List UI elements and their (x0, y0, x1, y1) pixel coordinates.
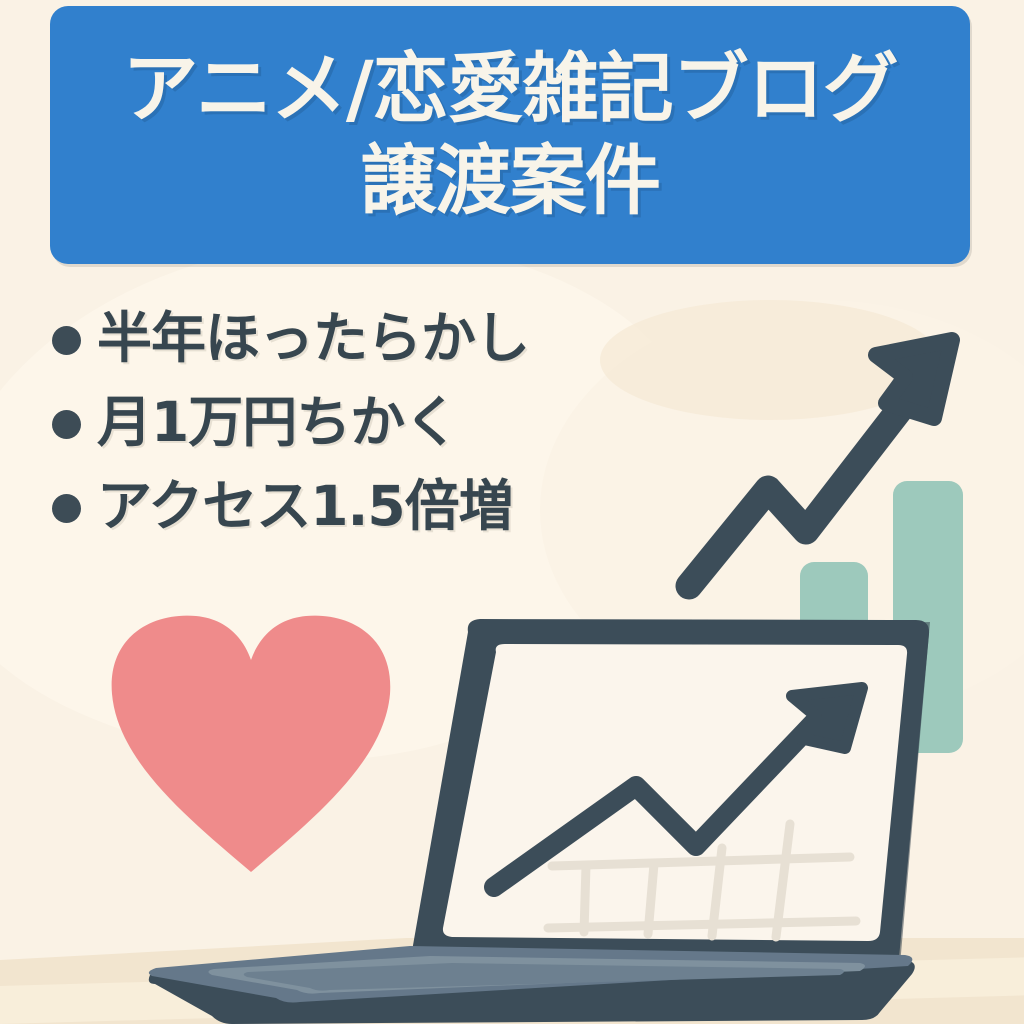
bullet-dot-icon (52, 410, 81, 439)
bullet-label-3: アクセス1.5倍増 (97, 476, 513, 536)
poster-canvas: アニメ/恋愛雑記ブログ 譲渡案件 半年ほったらかし 月1万円ちかく アクセス1.… (0, 0, 1024, 1024)
title-line-2: 譲渡案件 (360, 138, 660, 224)
bullet-label-1: 半年ほったらかし (97, 308, 529, 368)
title-banner: アニメ/恋愛雑記ブログ 譲渡案件 (50, 6, 970, 264)
list-item: アクセス1.5倍増 (52, 476, 529, 536)
bullet-dot-icon (52, 326, 81, 355)
bullet-label-2: 月1万円ちかく (97, 392, 458, 452)
bullet-list: 半年ほったらかし 月1万円ちかく アクセス1.5倍増 (52, 308, 529, 536)
title-line-1: アニメ/恋愛雑記ブログ (122, 46, 897, 132)
list-item: 半年ほったらかし (52, 308, 529, 368)
bullet-dot-icon (52, 494, 81, 523)
list-item: 月1万円ちかく (52, 392, 529, 452)
heart-icon (112, 616, 391, 872)
